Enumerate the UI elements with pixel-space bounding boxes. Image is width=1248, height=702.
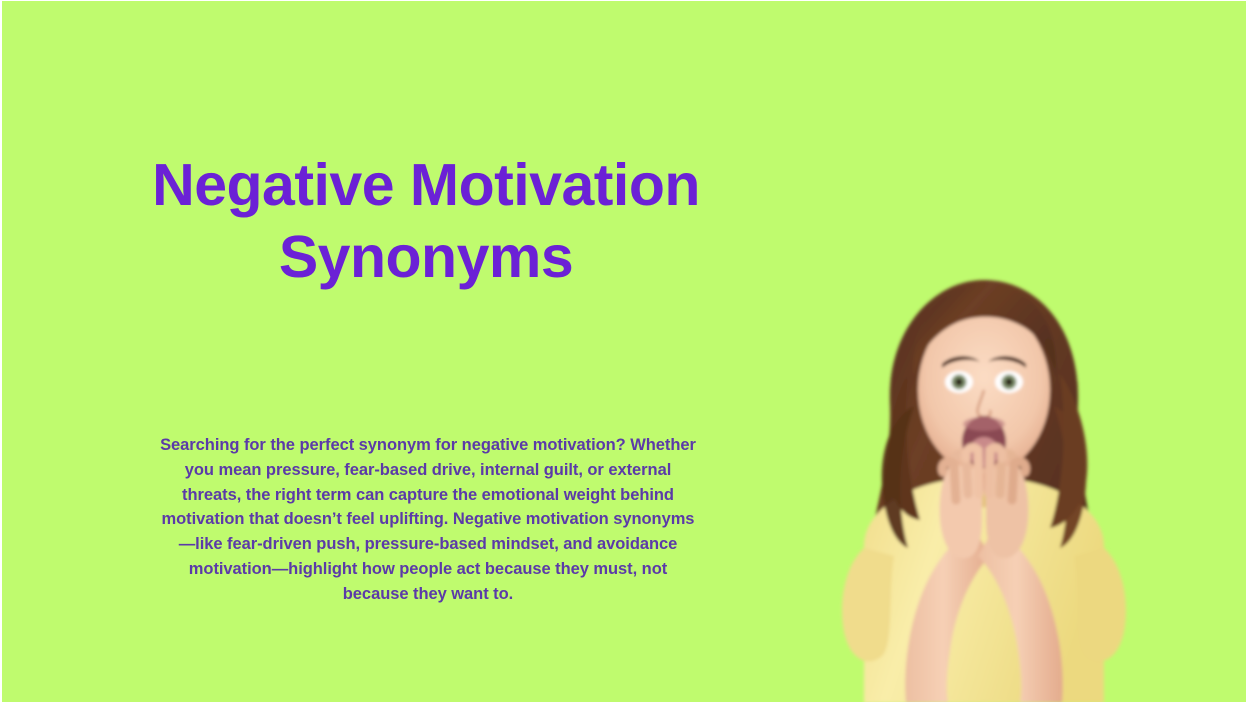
surprised-woman-illustration <box>802 256 1162 702</box>
woman-photo <box>802 256 1162 702</box>
pupil-right <box>1005 378 1012 385</box>
slide-canvas: Negative Motivation Synonyms Searching f… <box>0 0 1248 702</box>
body-paragraph: Searching for the perfect synonym for ne… <box>154 433 702 607</box>
upper-lip <box>963 417 1005 431</box>
text-column: Negative Motivation Synonyms Searching f… <box>126 1 726 702</box>
pupil-left <box>955 378 962 385</box>
page-title: Negative Motivation Synonyms <box>126 149 726 293</box>
